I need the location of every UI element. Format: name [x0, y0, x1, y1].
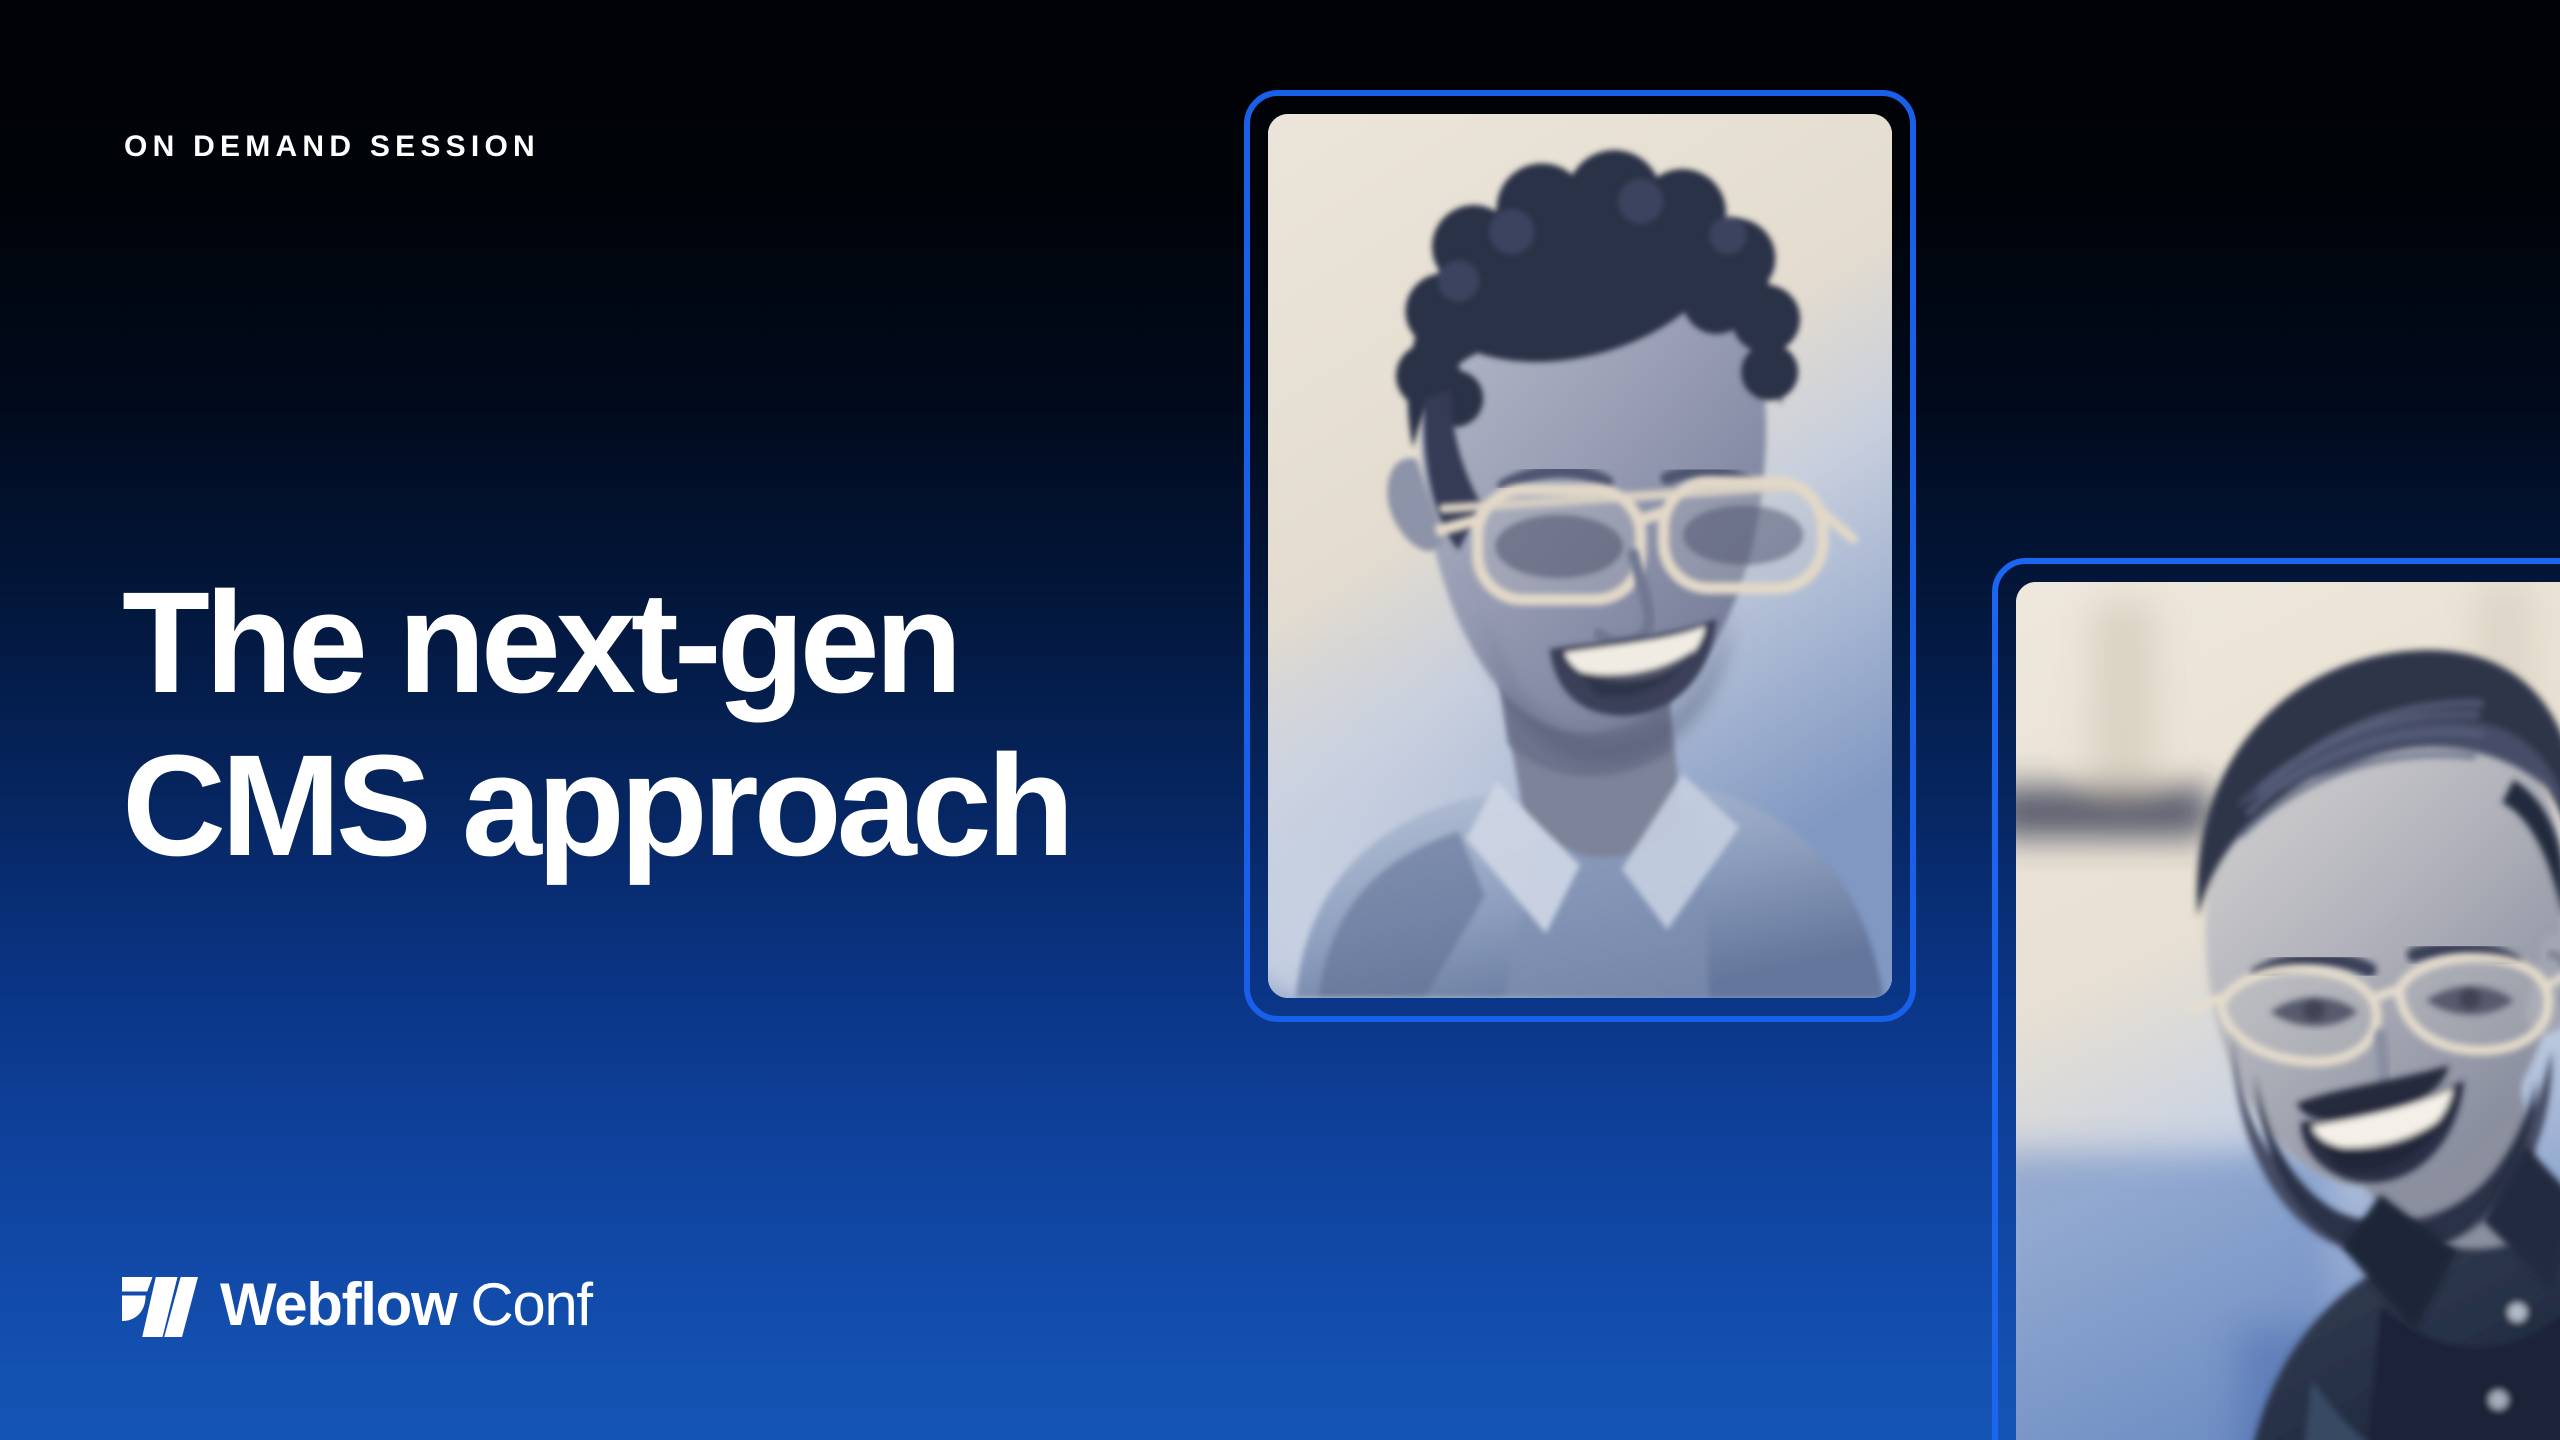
speaker-portrait-secondary [2016, 582, 2560, 1440]
page-title: The next-gen CMS approach [122, 562, 1070, 887]
speaker-portrait-primary [1268, 114, 1892, 998]
webflow-conf-logo: Webflow Conf [122, 1269, 592, 1345]
speaker-portrait-secondary-frame [1992, 558, 2560, 1440]
speaker-portrait-primary-frame [1244, 90, 1916, 1022]
logo-brand-text: Webflow [220, 1275, 456, 1335]
session-type-eyebrow: ON DEMAND SESSION [124, 132, 540, 162]
promo-slide: ON DEMAND SESSION The next-gen CMS appro… [0, 0, 2560, 1440]
logo-sub-text: Conf [470, 1275, 591, 1335]
webflow-conf-wordmark: Webflow Conf [220, 1275, 592, 1335]
webflow-logo-mark [122, 1277, 198, 1337]
